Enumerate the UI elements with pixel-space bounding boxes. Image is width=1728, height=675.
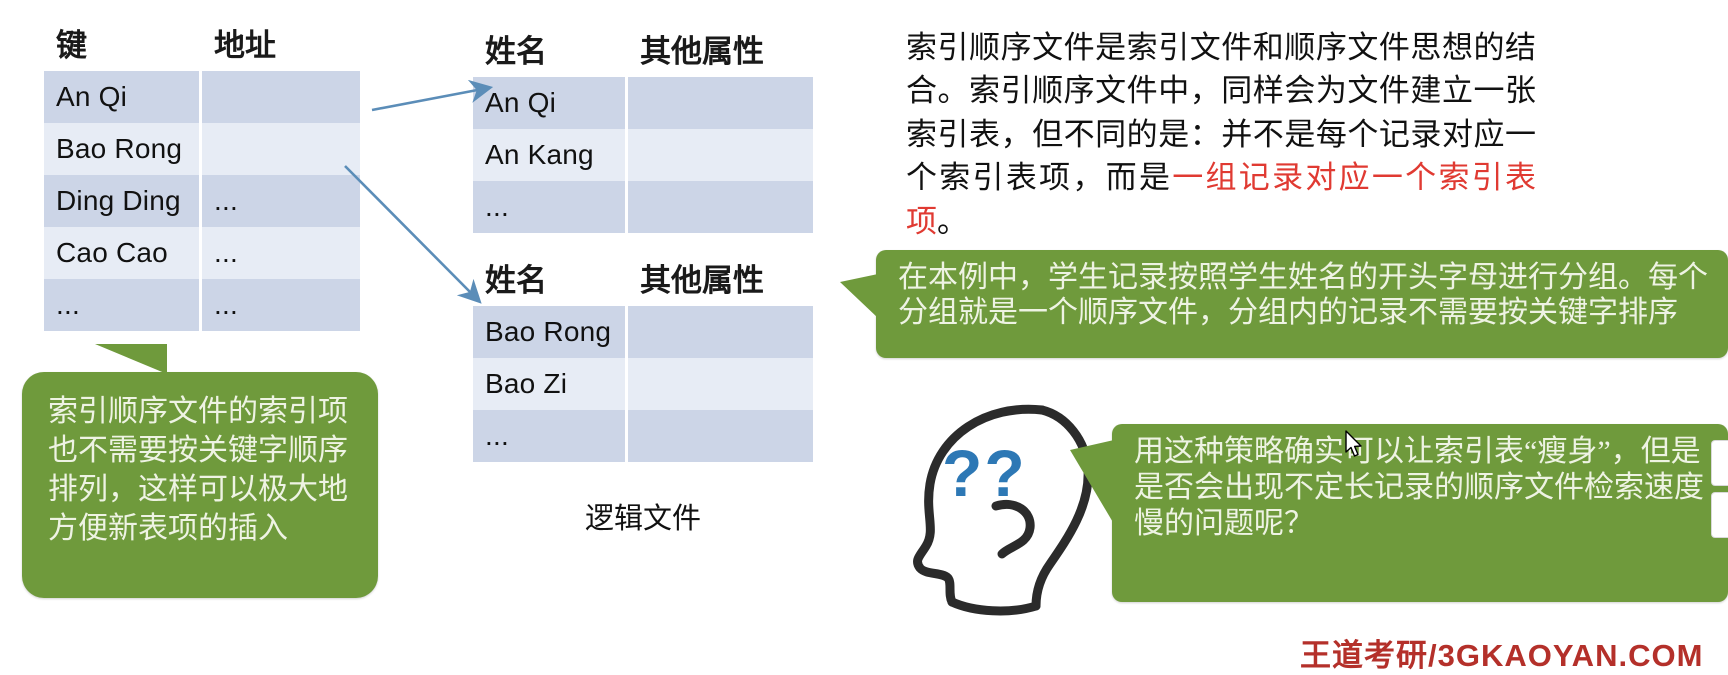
index-address-cell: ... (202, 175, 360, 227)
group-name-cell: An Kang (473, 129, 628, 181)
table-row: Ding Ding ... (44, 175, 360, 227)
group-name-cell: ... (473, 181, 628, 233)
explanation-part2: 。 (937, 204, 968, 239)
group-table-1: 姓名 其他属性 An Qi An Kang ... (473, 36, 813, 233)
group-table-2-header-row: 姓名 其他属性 (473, 265, 813, 306)
index-address-cell (202, 123, 360, 175)
group-other-cell (628, 410, 813, 462)
index-key-cell: Ding Ding (44, 175, 202, 227)
group-table-1-header-row: 姓名 其他属性 (473, 36, 813, 77)
callout-grouping-text: 在本例中，学生记录按照学生姓名的开头字母进行分组。每个分组就是一个顺序文件，分组… (898, 260, 1714, 331)
table-row: ... ... (44, 279, 360, 331)
index-address-cell: ... (202, 227, 360, 279)
group-other-cell (628, 129, 813, 181)
callout-question-text: 用这种策略确实可以让索引表“瘦身”，但是是否会出现不定长记录的顺序文件检索速度慢… (1134, 434, 1716, 542)
slide-canvas: 键 地址 An Qi Bao Rong Ding Ding ... Cao Ca… (0, 0, 1728, 660)
table-row: An Kang (473, 129, 813, 181)
callout-grouping: 在本例中，学生记录按照学生姓名的开头字母进行分组。每个分组就是一个顺序文件，分组… (876, 250, 1728, 358)
mouse-cursor-icon (1345, 430, 1365, 460)
index-key-cell: An Qi (44, 71, 202, 123)
group-table-1-header-name: 姓名 (473, 36, 628, 67)
question-marks-text: ?? (942, 440, 1027, 506)
callout-question-tail (1070, 440, 1114, 524)
logical-file-label: 逻辑文件 (473, 495, 813, 537)
group-name-cell: An Qi (473, 77, 628, 129)
group-other-cell (628, 77, 813, 129)
callout-question: 用这种策略确实可以让索引表“瘦身”，但是是否会出现不定长记录的顺序文件检索速度慢… (1112, 424, 1728, 602)
callout-grouping-tail (840, 274, 878, 318)
table-row: ... (473, 181, 813, 233)
index-table-header-row: 键 地址 (44, 30, 360, 71)
table-row: ... (473, 410, 813, 462)
index-table-header-key: 键 (44, 30, 202, 61)
index-key-cell: ... (44, 279, 202, 331)
group-table-1-header-other: 其他属性 (628, 36, 813, 67)
table-row: Bao Rong (473, 306, 813, 358)
index-key-cell: Cao Cao (44, 227, 202, 279)
table-row: Cao Cao ... (44, 227, 360, 279)
index-table: 键 地址 An Qi Bao Rong Ding Ding ... Cao Ca… (44, 30, 360, 331)
callout-index-order-text: 索引顺序文件的索引项也不需要按关键字顺序排列，这样可以极大地方便新表项的插入 (48, 392, 356, 548)
table-row: An Qi (44, 71, 360, 123)
group-name-cell: Bao Zi (473, 358, 628, 410)
group-table-2-header-other: 其他属性 (628, 265, 813, 296)
table-row: An Qi (473, 77, 813, 129)
index-address-cell (202, 71, 360, 123)
explanation-paragraph: 索引顺序文件是索引文件和顺序文件思想的结合。索引顺序文件中，同样会为文件建立一张… (906, 26, 1536, 243)
callout-index-order-tail (77, 344, 167, 374)
group-other-cell (628, 181, 813, 233)
group-table-2-header-name: 姓名 (473, 265, 628, 296)
callout-index-order: 索引顺序文件的索引项也不需要按关键字顺序排列，这样可以极大地方便新表项的插入 (22, 372, 378, 598)
group-other-cell (628, 358, 813, 410)
watermark-text: 王道考研/3GKAOYAN.COM (1300, 630, 1703, 675)
arrow-index-to-group2 (345, 166, 478, 300)
group-name-cell: ... (473, 410, 628, 462)
group-name-cell: Bao Rong (473, 306, 628, 358)
index-table-header-address: 地址 (202, 30, 360, 61)
arrow-index-to-group1 (372, 88, 488, 110)
table-row: Bao Zi (473, 358, 813, 410)
index-key-cell: Bao Rong (44, 123, 202, 175)
group-table-2: 姓名 其他属性 Bao Rong Bao Zi ... (473, 265, 813, 462)
edge-sliver-top (1711, 440, 1728, 486)
edge-sliver-bottom (1711, 492, 1728, 538)
table-row: Bao Rong (44, 123, 360, 175)
index-address-cell: ... (202, 279, 360, 331)
group-other-cell (628, 306, 813, 358)
